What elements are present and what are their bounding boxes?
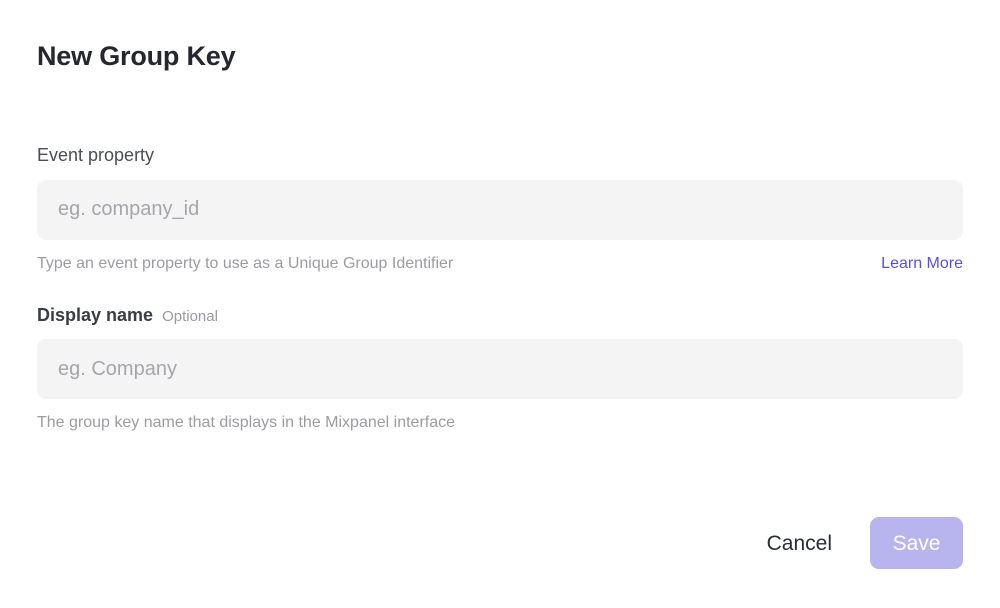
display-name-optional-tag: Optional (162, 308, 218, 326)
field-event-property: Event property Type an event property to… (37, 145, 963, 273)
display-name-label: Display name (37, 305, 153, 327)
dialog-footer-actions: Cancel Save (767, 517, 963, 569)
learn-more-link[interactable]: Learn More (881, 254, 963, 273)
event-property-label-row: Event property (37, 145, 963, 167)
cancel-button[interactable]: Cancel (767, 533, 832, 554)
page-title: New Group Key (37, 40, 235, 72)
event-property-helper-text: Type an event property to use as a Uniqu… (37, 254, 453, 273)
form-body: Event property Type an event property to… (37, 145, 963, 465)
event-property-input[interactable] (37, 180, 963, 240)
save-button[interactable]: Save (870, 517, 963, 569)
display-name-footer: The group key name that displays in the … (37, 413, 963, 432)
display-name-helper-text: The group key name that displays in the … (37, 413, 455, 432)
event-property-footer: Type an event property to use as a Uniqu… (37, 254, 963, 273)
event-property-label: Event property (37, 145, 154, 167)
display-name-label-row: Display name Optional (37, 305, 963, 327)
new-group-key-dialog: New Group Key Event property Type an eve… (0, 0, 1000, 608)
field-display-name: Display name Optional The group key name… (37, 305, 963, 433)
display-name-input[interactable] (37, 339, 963, 399)
